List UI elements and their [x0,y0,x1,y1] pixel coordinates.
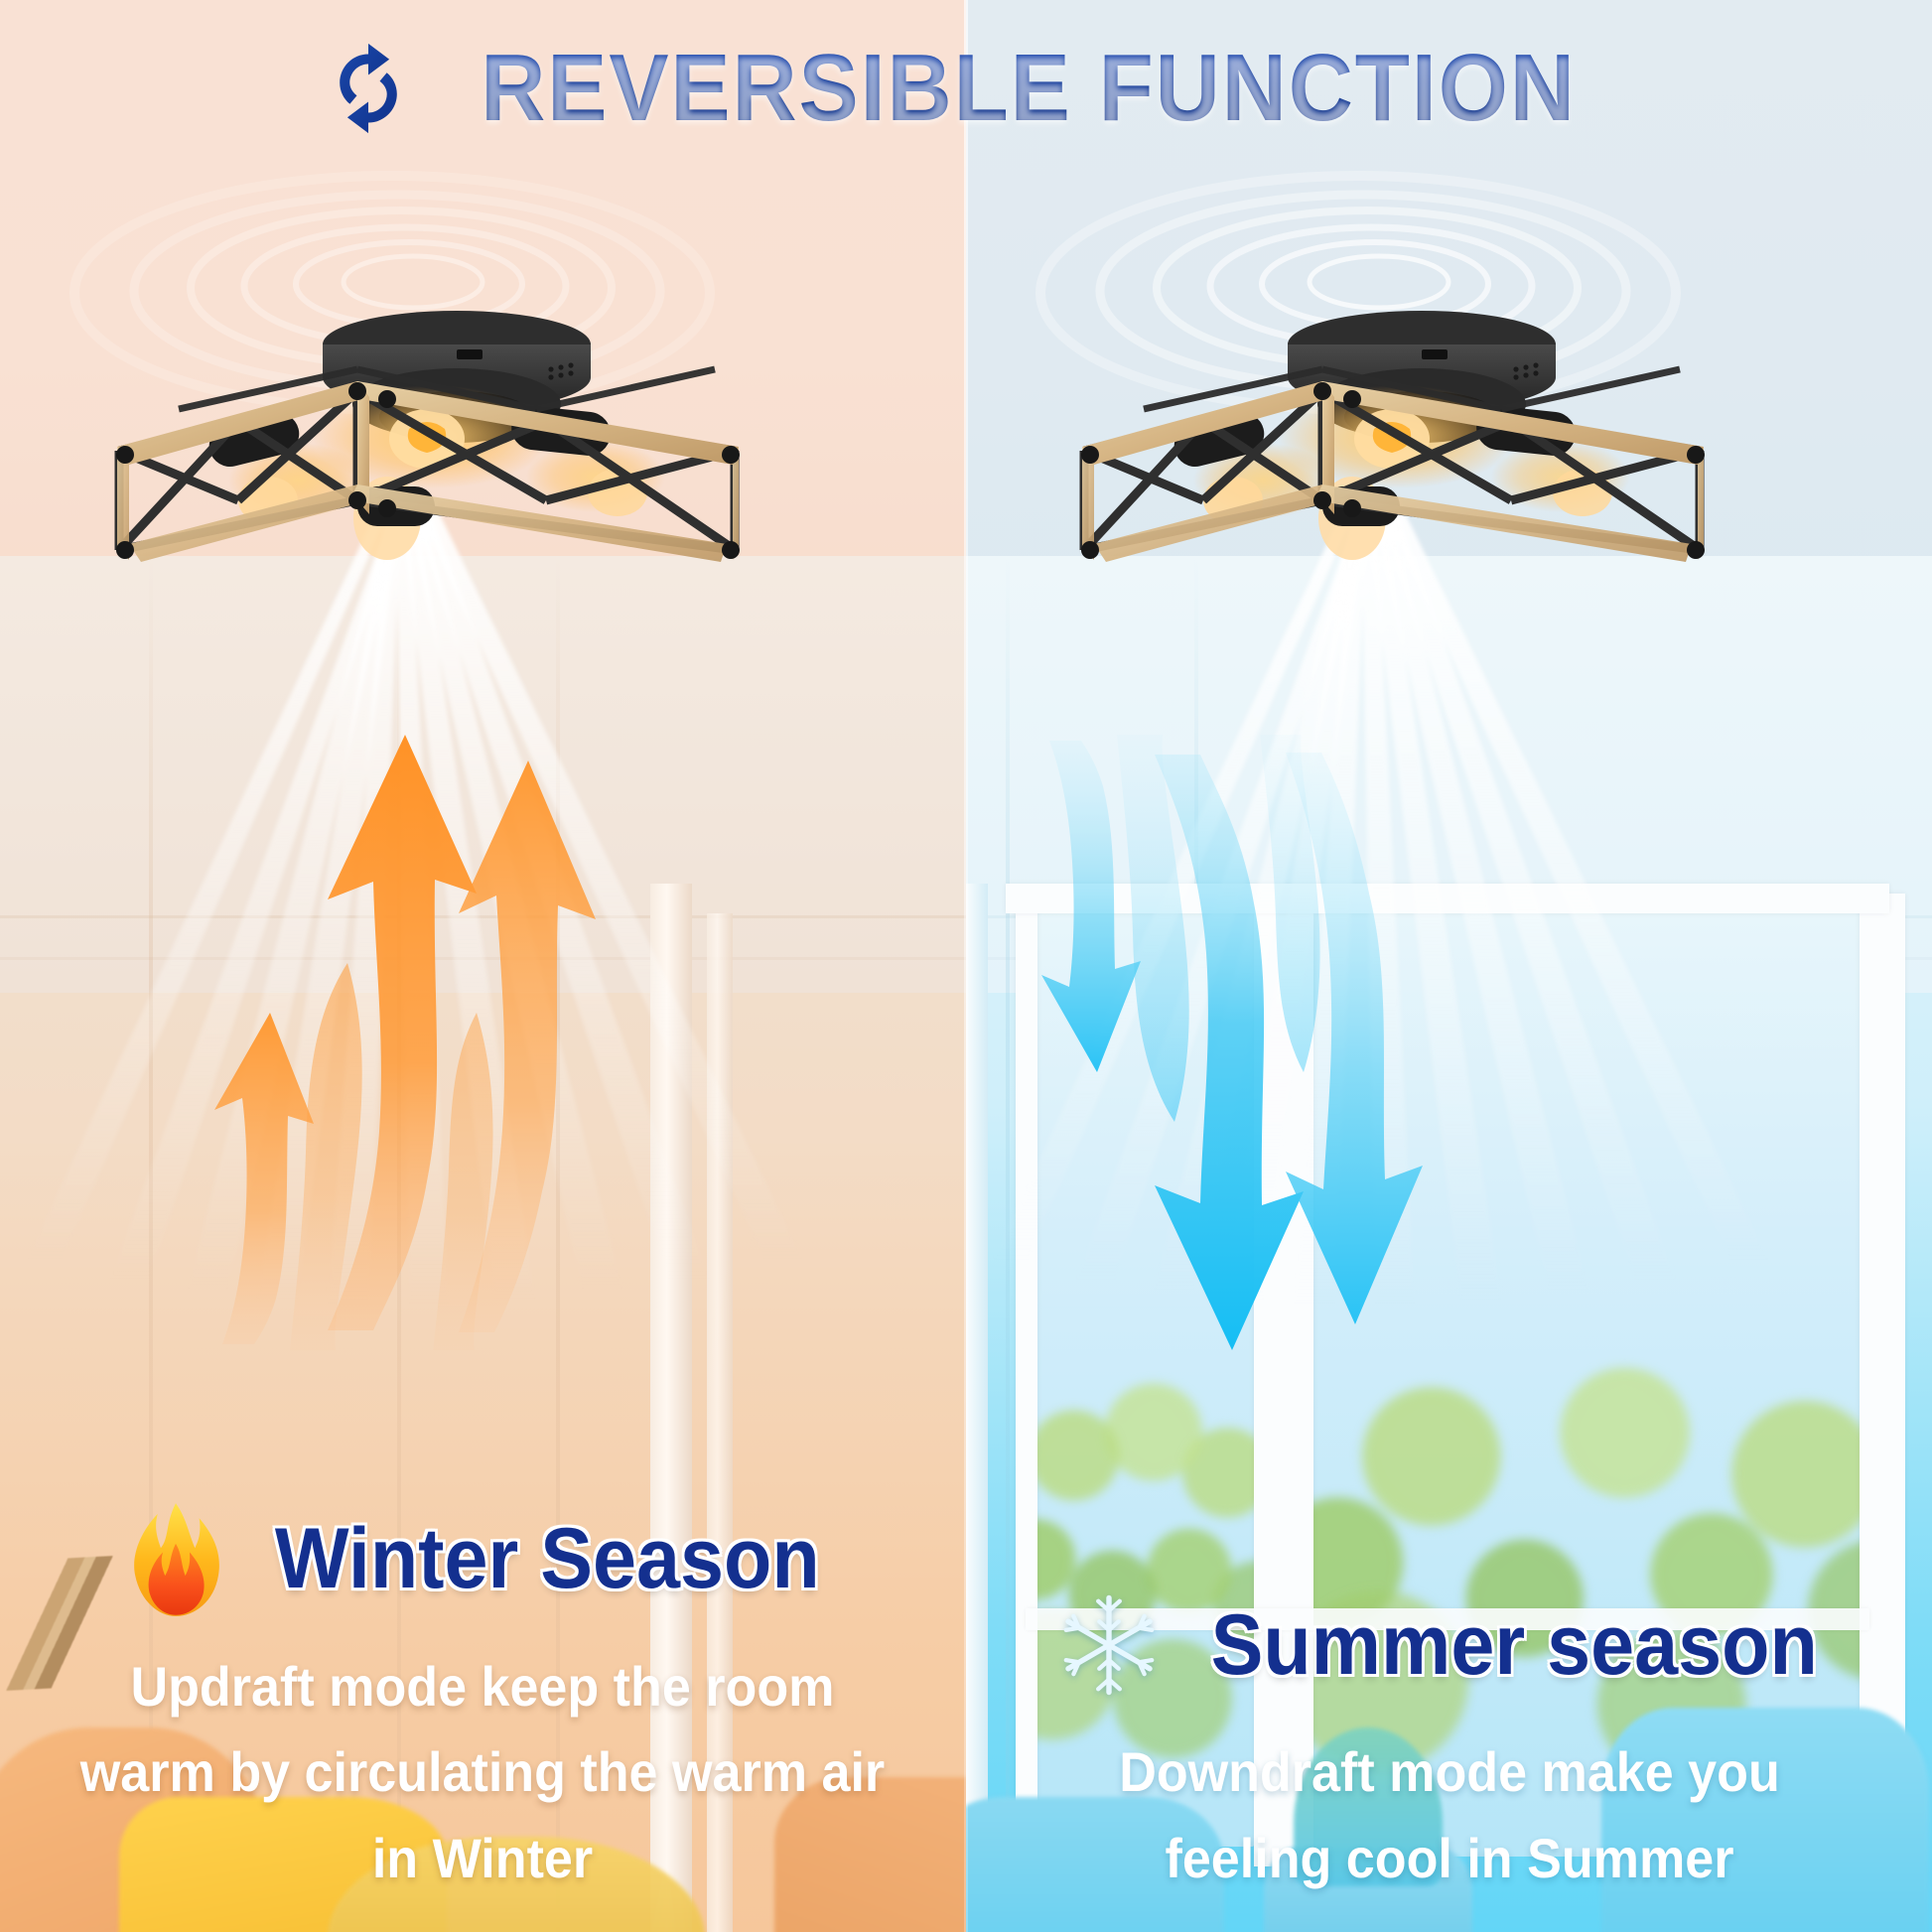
product-feature-banner: Winter Season Updraft mode keep the room… [0,0,1932,1932]
banner-header: REVERSIBLE FUNCTION [0,0,1932,177]
winter-heading-text: Winter Season [275,1510,820,1608]
summer-caption: Summer season Downdraft mode make you fe… [1003,1587,1896,1902]
ceiling-fan-light-winter [60,270,755,598]
summer-heading-text: Summer season [1210,1596,1817,1695]
panel-divider [964,0,968,1932]
summer-body-text: Downdraft mode make you feeling cool in … [1035,1729,1865,1902]
fire-flame-icon [122,1501,229,1618]
panel-winter: Winter Season Updraft mode keep the room… [0,0,966,1932]
panel-summer: Summer season Downdraft mode make you fe… [966,0,1932,1932]
winter-body-text: Updraft mode keep the room warm by circu… [68,1644,898,1902]
summer-caption-heading: Summer season [1003,1587,1896,1704]
ceiling-fan-light-summer [1025,270,1720,598]
updraft-arrows [179,715,655,1350]
banner-title: REVERSIBLE FUNCTION [481,34,1577,143]
downdraft-arrows [1006,735,1482,1370]
snowflake-icon [1055,1587,1163,1704]
winter-caption-heading: Winter Season [36,1501,929,1618]
winter-caption: Winter Season Updraft mode keep the room… [36,1501,929,1902]
reversible-refresh-icon [321,41,416,136]
